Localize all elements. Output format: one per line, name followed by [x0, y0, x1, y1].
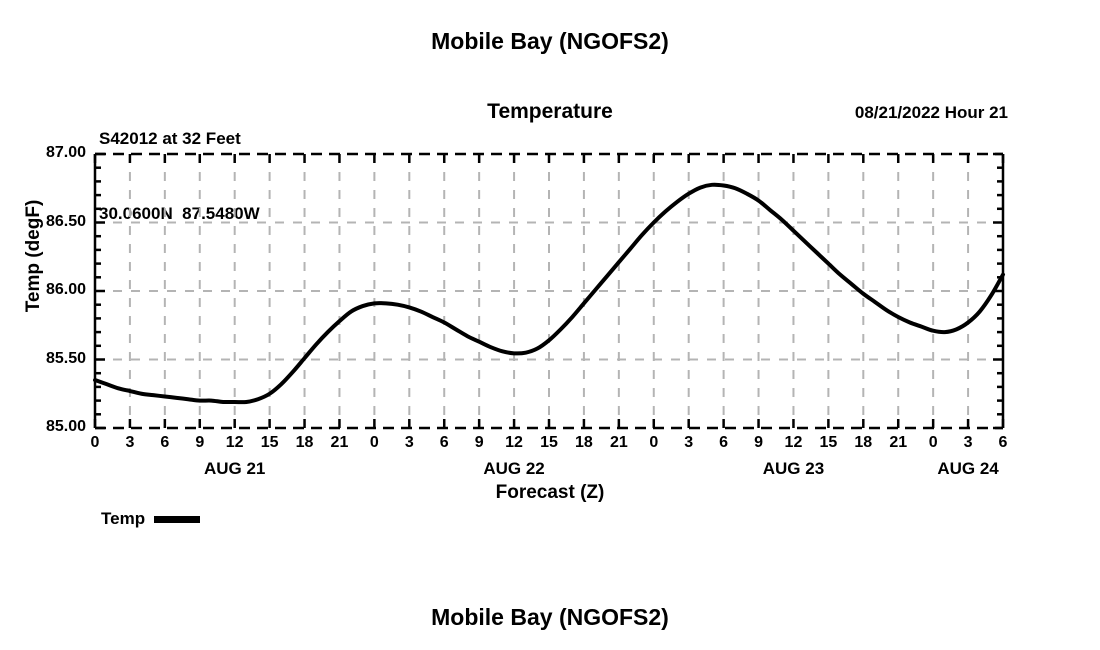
legend-series-label: Temp [101, 509, 145, 529]
plot-area: 85.0085.5086.0086.5087.00 Temp (degF) 03… [0, 0, 1100, 650]
x-day-label: AUG 22 [454, 459, 574, 479]
chart-canvas [0, 0, 1100, 650]
x-tick-label: 6 [983, 434, 1023, 452]
legend: Temp [101, 509, 200, 529]
y-tick-label: 85.50 [22, 350, 86, 368]
x-axis-title: Forecast (Z) [0, 482, 1100, 504]
y-tick-label: 87.00 [22, 144, 86, 162]
legend-line-swatch [154, 516, 200, 523]
x-day-label: AUG 23 [733, 459, 853, 479]
chart-page: Mobile Bay (NGOFS2) S42012 at 32 Feet 30… [0, 0, 1100, 650]
y-axis-title: Temp (degF) [23, 171, 45, 341]
x-day-label: AUG 21 [175, 459, 295, 479]
footer-title: Mobile Bay (NGOFS2) [0, 604, 1100, 631]
x-day-label: AUG 24 [908, 459, 1028, 479]
